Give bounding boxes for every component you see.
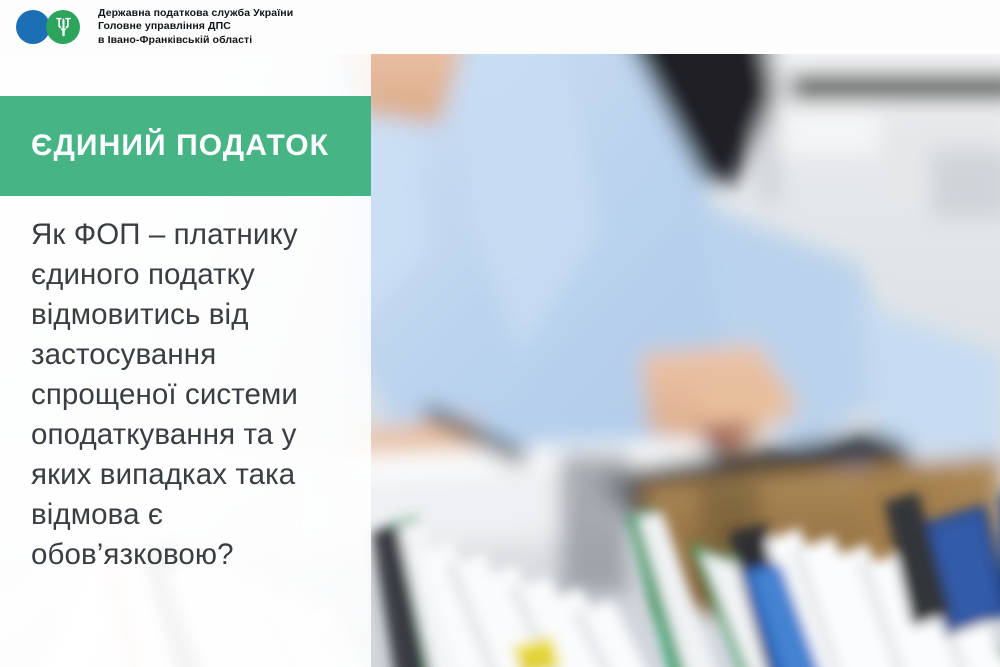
topic-banner-label: ЄДИНИЙ ПОДАТОК	[0, 131, 329, 161]
org-line-1: Державна податкова служба України	[98, 7, 293, 20]
org-line-3: в Івано-Франківській області	[98, 34, 293, 47]
logo-green-circle-tryzub-icon	[46, 10, 80, 44]
topic-banner: ЄДИНИЙ ПОДАТОК	[0, 96, 371, 196]
logo-blue-circle-icon	[16, 10, 50, 44]
org-line-2: Головне управління ДПС	[98, 20, 293, 33]
infographic-page: ЄДИНИЙ ПОДАТОК Як ФОП – платнику єдиного…	[0, 0, 1000, 667]
page-header: Державна податкова служба України Головн…	[0, 0, 1000, 54]
headline-text: Як ФОП – платнику єдиного податку відмов…	[31, 215, 351, 575]
dps-logo	[16, 9, 84, 45]
organization-name: Державна податкова служба України Головн…	[98, 7, 293, 47]
